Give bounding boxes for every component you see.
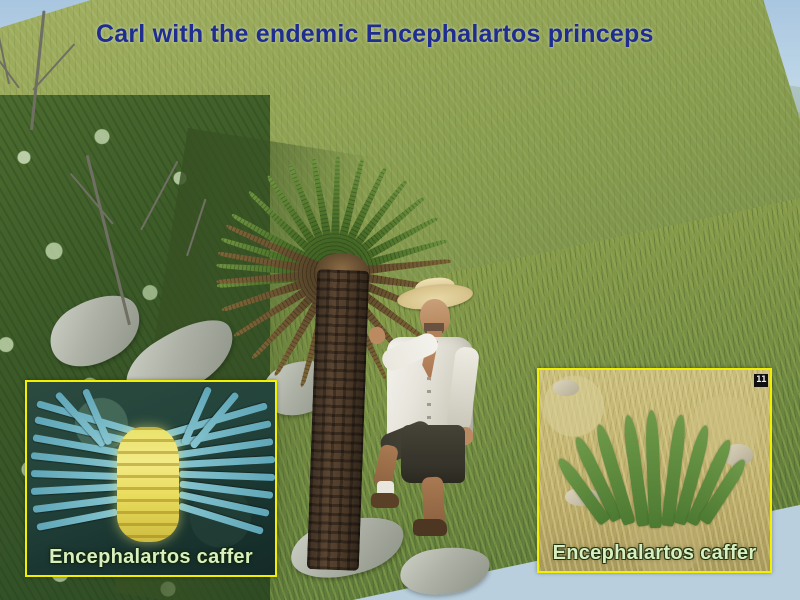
seedling-leaf bbox=[645, 410, 662, 528]
cycad-trunk bbox=[307, 269, 369, 571]
presentation-slide: Carl with the endemic Encephalartos prin… bbox=[0, 0, 800, 600]
left-hand bbox=[367, 325, 388, 346]
small-rock bbox=[553, 380, 579, 396]
boot-raised bbox=[371, 493, 399, 508]
cycad-leaflet bbox=[31, 483, 119, 495]
inset-photo-left[interactable]: Encephalartos caffer bbox=[25, 380, 277, 577]
inset-photo-right[interactable]: 11 Encephalartos caffer bbox=[537, 368, 772, 573]
dark-shorts bbox=[401, 425, 465, 483]
inset-caption-left: Encephalartos caffer bbox=[27, 546, 275, 569]
timestamp-badge: 11 bbox=[754, 374, 768, 387]
cycad-seed-cone bbox=[117, 427, 179, 542]
boot-standing bbox=[413, 519, 447, 536]
cycad-leaflet bbox=[31, 470, 121, 480]
person-carl bbox=[365, 285, 485, 540]
cycad-seedling-photo: 11 bbox=[539, 370, 770, 571]
cycad-leaflet bbox=[177, 456, 275, 468]
page-title: Carl with the endemic Encephalartos prin… bbox=[96, 20, 654, 49]
cycad-leaflet bbox=[36, 508, 118, 531]
inset-caption-right: Encephalartos caffer bbox=[539, 542, 770, 565]
cycad-leaflet bbox=[179, 471, 275, 481]
